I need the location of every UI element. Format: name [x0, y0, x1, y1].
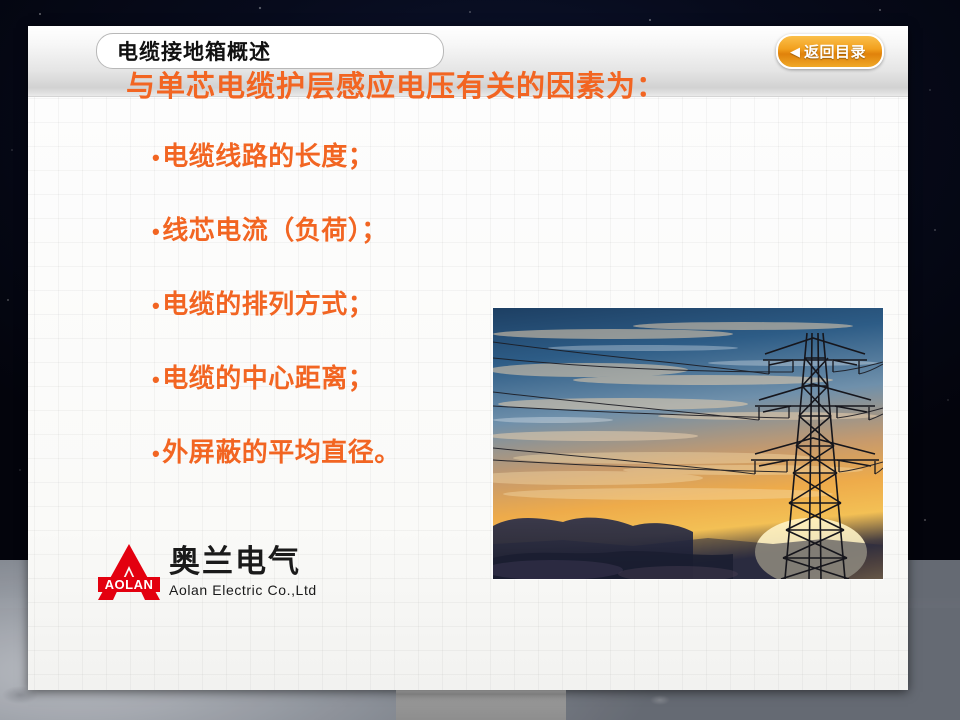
- back-button-label: 返回目录: [804, 41, 866, 62]
- bullet-list: • 电缆线路的长度； • 线芯电流（负荷）； • 电缆的排列方式； • 电缆的中…: [152, 136, 512, 506]
- back-arrow-icon: ◀: [790, 45, 800, 58]
- list-item-label: 电缆线路的长度；: [162, 136, 374, 173]
- svg-text:AOLAN: AOLAN: [105, 577, 154, 592]
- bullet-marker-icon: •: [152, 221, 160, 243]
- list-item-label: 电缆的中心距离；: [162, 358, 374, 395]
- bullet-marker-icon: •: [152, 369, 160, 391]
- list-item-label: 电缆的排列方式；: [162, 284, 374, 321]
- list-item: • 电缆线路的长度；: [152, 136, 512, 210]
- company-name-en: Aolan Electric Co.,Ltd: [169, 582, 317, 598]
- list-item-label: 线芯电流（负荷）；: [162, 210, 388, 247]
- transmission-tower-photo: [493, 308, 883, 579]
- aolan-a-mark-icon: AOLAN: [98, 544, 160, 600]
- content-heading: 与单芯电缆护层感应电压有关的因素为：: [126, 63, 666, 105]
- list-item: • 线芯电流（负荷）；: [152, 210, 512, 284]
- slide-panel: 电缆接地箱概述 ◀ 返回目录 与单芯电缆护层感应电压有关的因素为： • 电缆线路…: [28, 26, 908, 690]
- list-item-label: 外屏蔽的平均直径。: [162, 432, 401, 469]
- logo-text-block: 奥兰电气 Aolan Electric Co.,Ltd: [169, 546, 317, 600]
- list-item: • 外屏蔽的平均直径。: [152, 432, 512, 506]
- presentation-stage: 电缆接地箱概述 ◀ 返回目录 与单芯电缆护层感应电压有关的因素为： • 电缆线路…: [0, 0, 960, 720]
- list-item: • 电缆的中心距离；: [152, 358, 512, 432]
- company-logo: AOLAN 奥兰电气 Aolan Electric Co.,Ltd: [98, 544, 317, 600]
- bullet-marker-icon: •: [152, 443, 160, 465]
- list-item: • 电缆的排列方式；: [152, 284, 512, 358]
- page-title: 电缆接地箱概述: [117, 36, 271, 66]
- bullet-marker-icon: •: [152, 295, 160, 317]
- company-name-cn: 奥兰电气: [169, 546, 317, 579]
- bullet-marker-icon: •: [152, 147, 160, 169]
- back-to-contents-button[interactable]: ◀ 返回目录: [776, 34, 884, 69]
